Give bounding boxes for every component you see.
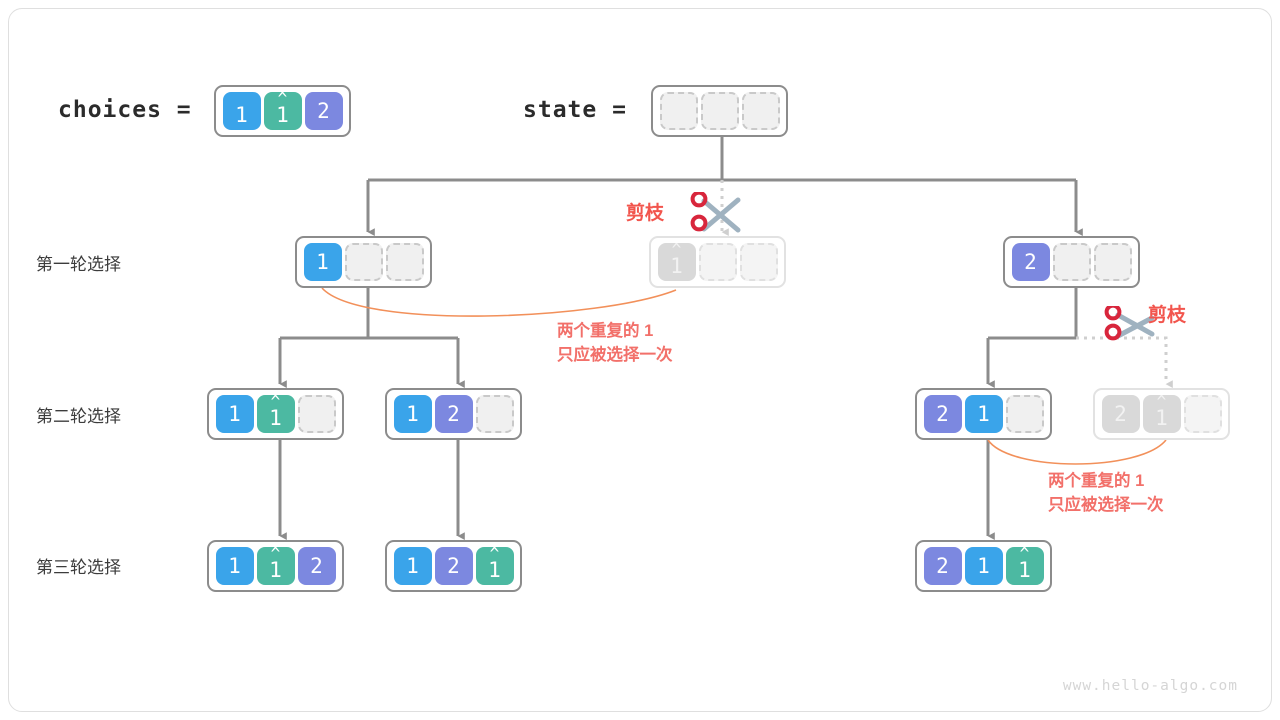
choices-label: choices = [58, 97, 192, 123]
duplicate-note-right: 两个重复的 1 只应被选择一次 [1048, 470, 1164, 518]
node-cell[interactable]: 2 [435, 395, 473, 433]
node-cell[interactable]: 1 [216, 395, 254, 433]
node-cell[interactable]: 1 [304, 243, 342, 281]
node-cell[interactable]: ^ 1 [257, 395, 295, 433]
duplicate-note-left-line2: 只应被选择一次 [557, 344, 673, 368]
node-cell[interactable] [298, 395, 336, 433]
state-label: state = [523, 97, 627, 123]
node-cell[interactable]: ^ 1 [658, 243, 696, 281]
node-cell[interactable] [1184, 395, 1222, 433]
node-r2-d-pruned[interactable]: 2 ^ 1 [1093, 388, 1230, 440]
choices-cell-1[interactable]: ^ 1 [264, 92, 302, 130]
node-cell[interactable]: 1 [394, 395, 432, 433]
row-label-3: 第三轮选择 [36, 553, 121, 578]
node-cell[interactable]: 2 [435, 547, 473, 585]
duplicate-note-left: 两个重复的 1 只应被选择一次 [557, 320, 673, 368]
node-cell[interactable] [1094, 243, 1132, 281]
node-cell[interactable] [1006, 395, 1044, 433]
scissors-icon-left [686, 192, 748, 238]
prune-label-right: 剪枝 [1148, 300, 1186, 327]
node-r2-a[interactable]: 1 ^ 1 [207, 388, 344, 440]
node-cell[interactable]: 1 [965, 395, 1003, 433]
row-label-1: 第一轮选择 [36, 250, 121, 275]
node-cell[interactable]: 2 [1102, 395, 1140, 433]
watermark: www.hello-algo.com [1063, 678, 1238, 694]
row-label-2: 第二轮选择 [36, 402, 121, 427]
node-r1-right[interactable]: 2 [1003, 236, 1140, 288]
node-r1-left[interactable]: 1 [295, 236, 432, 288]
node-cell[interactable]: 2 [1012, 243, 1050, 281]
node-cell[interactable]: 2 [924, 547, 962, 585]
node-cell[interactable]: 1 [216, 547, 254, 585]
state-cell-1[interactable] [701, 92, 739, 130]
node-cell[interactable]: 1 [394, 547, 432, 585]
prune-label-left: 剪枝 [626, 198, 664, 225]
node-cell[interactable]: ^ 1 [1006, 547, 1044, 585]
node-cell[interactable]: ^ 1 [476, 547, 514, 585]
node-r3-b[interactable]: 1 2 ^ 1 [385, 540, 522, 592]
node-r3-c[interactable]: 2 1 ^ 1 [915, 540, 1052, 592]
choices-cell-2[interactable]: 2 [305, 92, 343, 130]
node-cell[interactable] [345, 243, 383, 281]
node-cell[interactable] [386, 243, 424, 281]
duplicate-note-right-line1: 两个重复的 1 [1048, 470, 1164, 494]
node-cell[interactable]: 2 [924, 395, 962, 433]
node-r2-c[interactable]: 2 1 [915, 388, 1052, 440]
node-cell[interactable] [740, 243, 778, 281]
node-r1-mid-pruned[interactable]: ^ 1 [649, 236, 786, 288]
node-cell[interactable]: 1 [965, 547, 1003, 585]
node-cell[interactable] [1053, 243, 1091, 281]
state-cell-2[interactable] [742, 92, 780, 130]
node-cell[interactable] [699, 243, 737, 281]
choices-array[interactable]: 1 ^ 1 2 [214, 85, 351, 137]
node-cell[interactable] [476, 395, 514, 433]
duplicate-note-left-line1: 两个重复的 1 [557, 320, 673, 344]
choices-cell-0[interactable]: 1 [223, 92, 261, 130]
state-cell-0[interactable] [660, 92, 698, 130]
state-array[interactable] [651, 85, 788, 137]
node-r3-a[interactable]: 1 ^ 1 2 [207, 540, 344, 592]
node-cell[interactable]: ^ 1 [257, 547, 295, 585]
node-cell[interactable]: 2 [298, 547, 336, 585]
duplicate-note-right-line2: 只应被选择一次 [1048, 494, 1164, 518]
node-r2-b[interactable]: 1 2 [385, 388, 522, 440]
node-cell[interactable]: ^ 1 [1143, 395, 1181, 433]
diagram-canvas: choices = state = 1 ^ 1 2 第一轮选择 第二轮选择 第三… [0, 0, 1280, 720]
